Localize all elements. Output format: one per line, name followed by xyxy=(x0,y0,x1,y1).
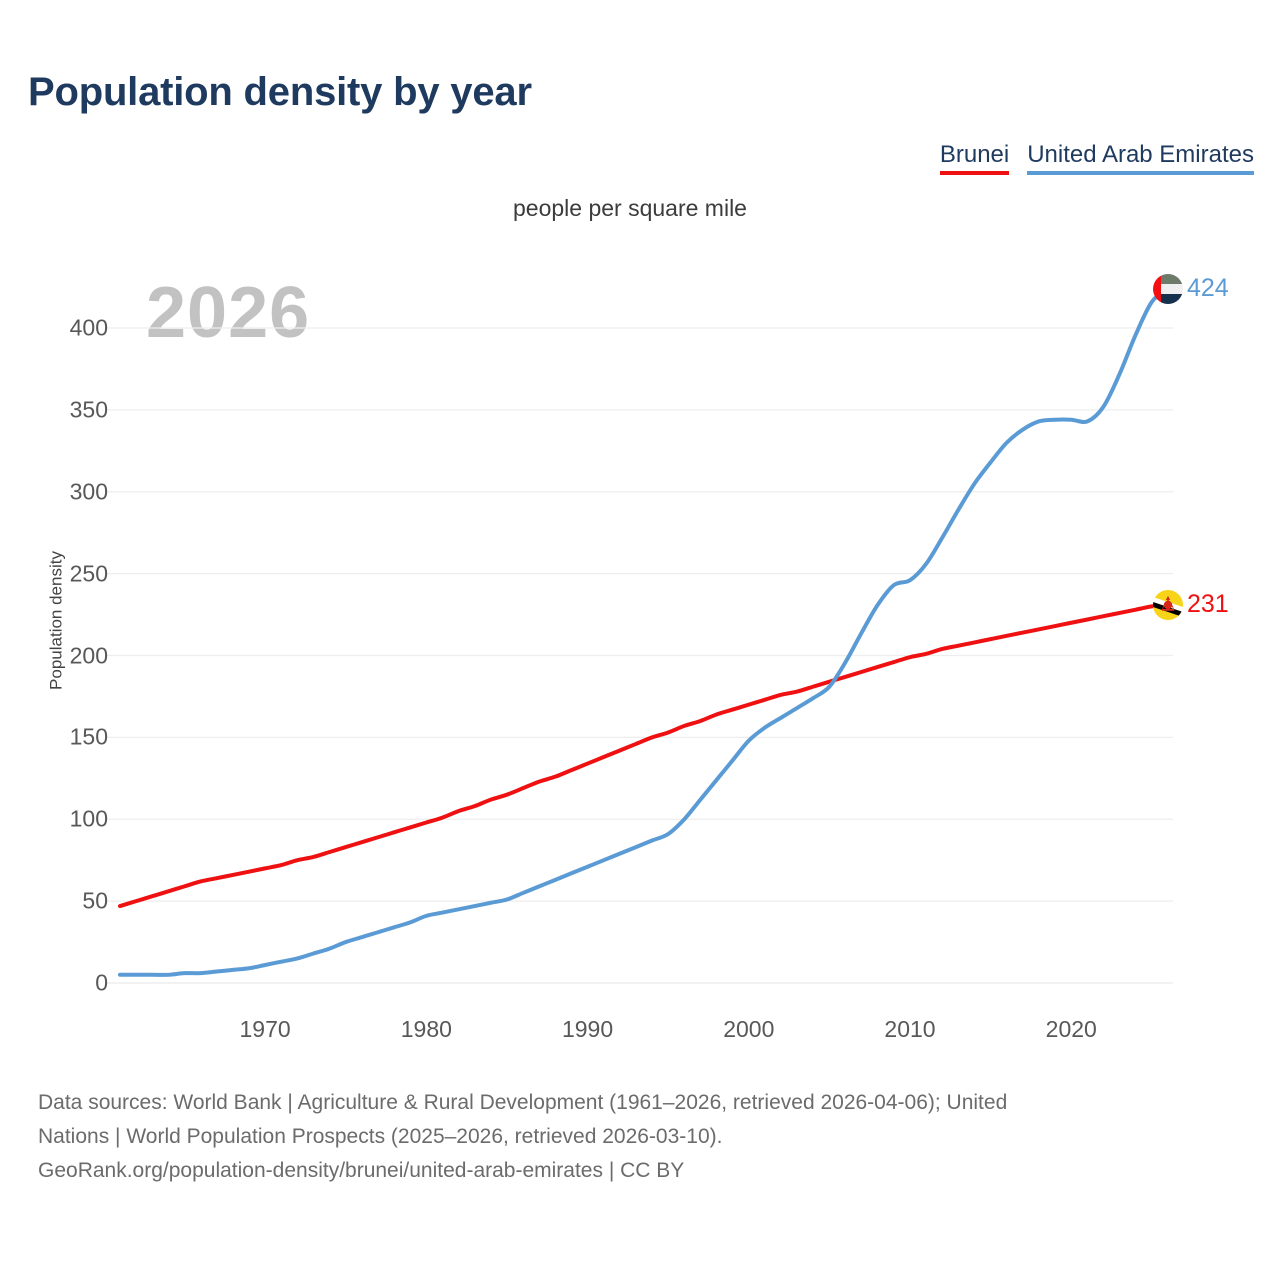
y-tick-label: 100 xyxy=(0,808,108,831)
brunei-flag-icon xyxy=(1153,590,1183,620)
end-value-brunei: 231 xyxy=(1187,592,1229,617)
grid-lines xyxy=(106,328,1173,983)
end-value-united-arab-emirates: 424 xyxy=(1187,276,1229,301)
x-tick-label: 2010 xyxy=(884,1018,935,1041)
x-tick-label: 1990 xyxy=(562,1018,613,1041)
footer-sources: Data sources: World Bank | Agriculture &… xyxy=(38,1086,1253,1188)
y-tick-label: 400 xyxy=(0,317,108,340)
x-tick-label: 1980 xyxy=(401,1018,452,1041)
x-tick-label: 2020 xyxy=(1046,1018,1097,1041)
footer-line-3[interactable]: GeoRank.org/population-density/brunei/un… xyxy=(38,1154,1253,1188)
series-line-brunei xyxy=(120,605,1168,906)
chart-plot-area: 2026 050100150200250300350400 1970198019… xyxy=(0,0,1280,1080)
footer-line-1: Data sources: World Bank | Agriculture &… xyxy=(38,1086,1253,1120)
series-lines xyxy=(120,289,1168,975)
y-tick-label: 300 xyxy=(0,480,108,503)
uae-flag-icon xyxy=(1153,274,1183,304)
end-label-brunei: 231 xyxy=(1153,590,1229,620)
series-line-united-arab-emirates xyxy=(120,289,1168,975)
y-axis-title: Population density xyxy=(48,521,65,721)
y-tick-label: 0 xyxy=(0,972,108,995)
y-tick-label: 50 xyxy=(0,890,108,913)
chart-svg xyxy=(0,0,1280,1080)
y-tick-label: 350 xyxy=(0,398,108,421)
footer-line-2: Nations | World Population Prospects (20… xyxy=(38,1120,1253,1154)
x-tick-label: 1970 xyxy=(240,1018,291,1041)
x-tick-label: 2000 xyxy=(723,1018,774,1041)
y-tick-label: 150 xyxy=(0,726,108,749)
end-label-united-arab-emirates: 424 xyxy=(1153,274,1229,304)
